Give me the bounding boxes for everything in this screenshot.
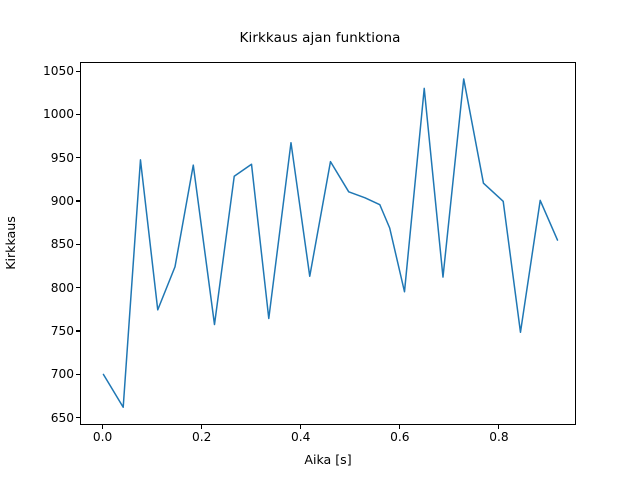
matplotlib-figure: Kirkkaus ajan funktiona 6507007508008509… (0, 0, 640, 480)
x-tick-label: 0.0 (93, 430, 112, 444)
plot-axes (80, 62, 576, 425)
x-tick-label: 0.4 (291, 430, 310, 444)
y-tick-label: 700 (51, 367, 74, 381)
y-tick-label: 1000 (43, 107, 74, 121)
line-series-svg (81, 63, 575, 424)
y-tick-label: 950 (51, 151, 74, 165)
x-tick-label: 0.6 (390, 430, 409, 444)
x-tick-mark (102, 425, 103, 429)
y-tick-label: 800 (51, 281, 74, 295)
y-tick-label: 850 (51, 237, 74, 251)
x-axis-tick-labels: 0.00.20.40.60.8 (0, 430, 640, 450)
x-axis-label: Aika [s] (80, 452, 576, 467)
y-axis-tick-labels: 65070075080085090095010001050 (32, 0, 74, 480)
x-tick-mark (201, 425, 202, 429)
y-tick-label: 650 (51, 411, 74, 425)
x-tick-mark (300, 425, 301, 429)
x-tick-label: 0.2 (192, 430, 211, 444)
brightness-line-series (103, 79, 557, 407)
page-title: Kirkkaus ajan funktiona (0, 30, 640, 46)
y-axis-label: Kirkkaus (0, 62, 22, 425)
y-tick-label: 1050 (43, 64, 74, 78)
x-tick-mark (399, 425, 400, 429)
y-tick-label: 750 (51, 324, 74, 338)
x-tick-mark (498, 425, 499, 429)
y-tick-label: 900 (51, 194, 74, 208)
x-tick-label: 0.8 (489, 430, 508, 444)
